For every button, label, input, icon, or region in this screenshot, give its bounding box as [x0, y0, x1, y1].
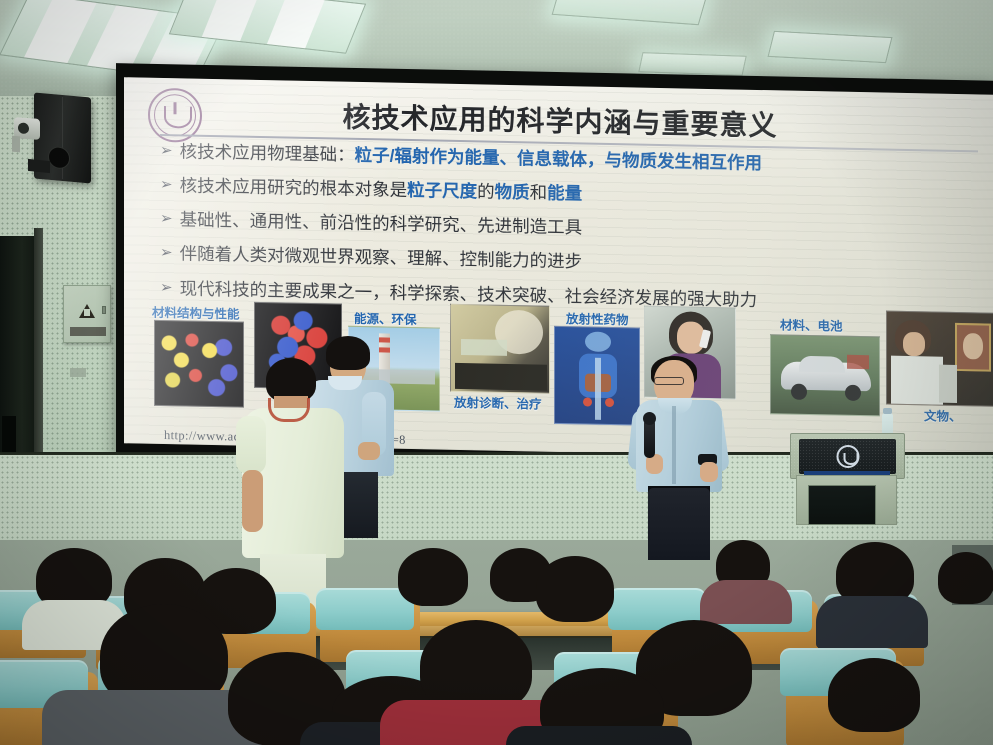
bottle-cap — [883, 408, 892, 414]
lectern-monitor[interactable] — [808, 485, 876, 525]
audience-shoulders — [700, 580, 792, 624]
student-hand — [358, 442, 380, 460]
university-emblem-icon — [836, 445, 859, 468]
audience-head — [938, 552, 993, 604]
lectern[interactable] — [790, 415, 905, 525]
audience-head — [536, 556, 614, 622]
audience-head — [828, 658, 920, 732]
speaker-driver-icon — [48, 146, 70, 170]
audience-head — [420, 620, 532, 712]
warning-triangle-icon — [79, 304, 95, 318]
audience-shoulders — [506, 726, 692, 745]
audience-head — [398, 548, 468, 606]
microphone-head-icon — [643, 412, 656, 425]
audience-shoulders — [816, 596, 928, 648]
glasses-icon — [654, 377, 684, 385]
lecturer — [628, 358, 734, 558]
ceiling-light — [638, 52, 746, 76]
camera-mount — [12, 136, 20, 153]
shirt-placket — [672, 406, 676, 484]
student-sleeve — [236, 416, 266, 474]
panel-label — [70, 327, 106, 336]
lecturer-trousers — [648, 488, 710, 560]
student-arm — [242, 470, 263, 532]
wall-sticker — [70, 368, 86, 377]
microphone[interactable] — [644, 418, 655, 458]
electrical-panel[interactable] — [63, 285, 111, 343]
panel-lock-icon[interactable] — [102, 306, 106, 314]
camera-lens-icon — [18, 122, 29, 134]
lecturer-hand-right — [700, 462, 718, 482]
lecture-hall-photo: 核技术应用的科学内涵与重要意义 ➢ 核技术应用物理基础：粒子/辐射作为能量、信息… — [0, 0, 993, 745]
lanyard — [268, 398, 310, 422]
speaker-bracket — [28, 159, 50, 173]
seat-back-cushion[interactable] — [316, 588, 414, 630]
